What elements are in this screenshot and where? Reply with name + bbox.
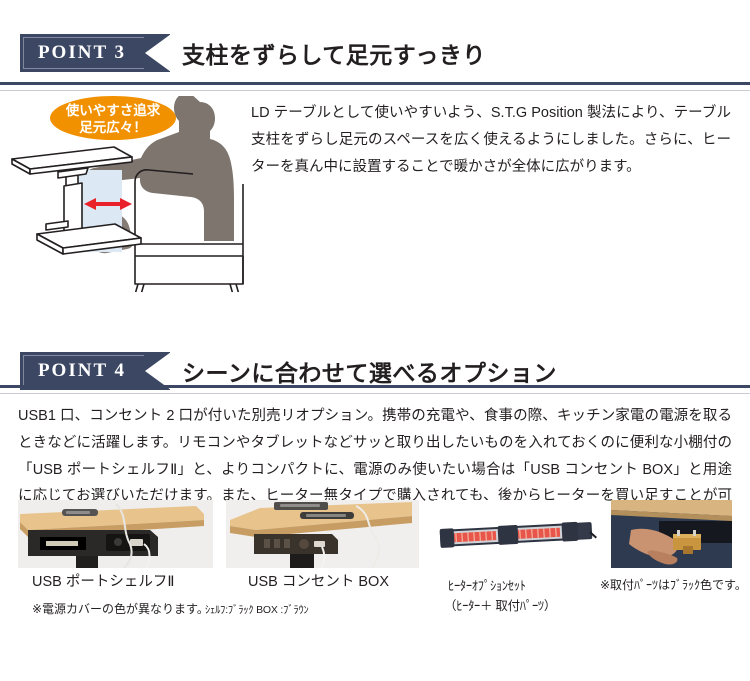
product-feature-page: POINT 3 支柱をずらして足元すっきり — [0, 0, 750, 681]
caption-usb-port-shelf: USB ポートシェルフⅡ — [32, 570, 174, 591]
note-power-cover-color: ※電源カバーの色が異なります。 — [32, 600, 209, 617]
note-mounting-parts: ※取付ﾊﾟｰﾂはﾌﾞﾗｯｸ色です。 — [600, 576, 747, 593]
caption-heater-option-set-line1: ﾋｰﾀｰｵﾌﾟｼｮﾝｾｯﾄ — [448, 575, 526, 594]
option-photo-strip — [0, 500, 750, 568]
photo-heater-option-set — [434, 500, 599, 568]
point3-description: LD テーブルとして使いやすいよう、S.T.G Position 製法により、テ… — [251, 100, 731, 180]
photo-mounting-parts — [611, 500, 732, 568]
caption-usb-outlet-box: USB コンセント BOX — [248, 570, 389, 591]
point4-rule-thick — [0, 385, 750, 388]
note-power-cover-color-detail: ｼｪﾙﾌ:ﾌﾞﾗｯｸ BOX :ﾌﾞﾗｳﾝ — [205, 602, 309, 617]
illustration-badge-line2: 足元広々！ — [79, 119, 147, 135]
photo-usb-outlet-box — [226, 500, 419, 568]
point3-badge-label: POINT 3 — [20, 34, 144, 72]
point3-ribbon: POINT 3 — [20, 34, 170, 72]
photo-usb-port-shelf — [18, 500, 213, 568]
point4-title: シーンに合わせて選べるオプション — [182, 354, 557, 388]
illustration-badge-line1: 使いやすさ追求 — [65, 102, 161, 118]
point3-rule-thick — [0, 82, 750, 85]
point3-rule-thin — [0, 90, 750, 91]
caption-heater-option-set-line2: （ﾋｰﾀｰ＋ 取付ﾊﾟｰﾂ） — [444, 595, 556, 614]
point4-rule-thin — [0, 393, 750, 394]
point3-header: POINT 3 支柱をずらして足元すっきり — [0, 30, 750, 76]
point3-title: 支柱をずらして足元すっきり — [182, 36, 486, 70]
point3-illustration: 使いやすさ追求 足元広々！ — [4, 96, 244, 292]
